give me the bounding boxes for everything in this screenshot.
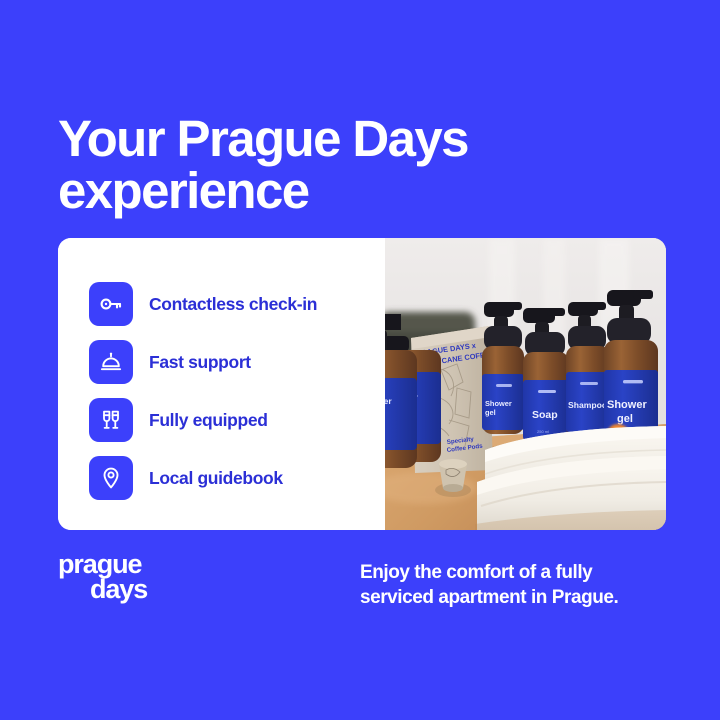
svg-text:Shower: Shower: [385, 396, 392, 406]
page-title: Your Prague Days experience: [58, 113, 678, 217]
feature-item-fast-support: Fast support: [89, 340, 385, 384]
bottle-label-1: Soap: [532, 409, 558, 421]
feature-item-local-guidebook: Local guidebook: [89, 456, 385, 500]
svg-text:250 ml: 250 ml: [537, 429, 549, 434]
bottle-label-3: Shower: [607, 399, 647, 411]
brand-logo: prague days: [58, 552, 147, 602]
glasses-icon: [89, 398, 133, 442]
svg-text:gel: gel: [617, 413, 633, 425]
bell-icon: [89, 340, 133, 384]
feature-item-fully-equipped: Fully equipped: [89, 398, 385, 442]
feature-list: Contactless check-in Fast support: [58, 238, 385, 530]
feature-card: Contactless check-in Fast support: [58, 238, 666, 530]
feature-label: Local guidebook: [149, 468, 283, 489]
feature-label: Fully equipped: [149, 410, 268, 431]
map-pin-icon: [89, 456, 133, 500]
logo-line-2: days: [58, 577, 147, 602]
amenities-photo: PRAGUE DAYS x CANDYCANE COFFEE Specialty…: [385, 238, 666, 530]
bottle-label-0: Shower: [485, 399, 512, 408]
bottle-label-2: Shampoo: [568, 400, 607, 410]
feature-label: Fast support: [149, 352, 251, 373]
feature-label: Contactless check-in: [149, 294, 317, 315]
tagline: Enjoy the comfort of a fully serviced ap…: [360, 560, 680, 610]
svg-text:gel: gel: [485, 408, 496, 417]
feature-item-contactless-check-in: Contactless check-in: [89, 282, 385, 326]
promo-canvas: Your Prague Days experience Contactless …: [0, 0, 720, 720]
key-icon: [89, 282, 133, 326]
